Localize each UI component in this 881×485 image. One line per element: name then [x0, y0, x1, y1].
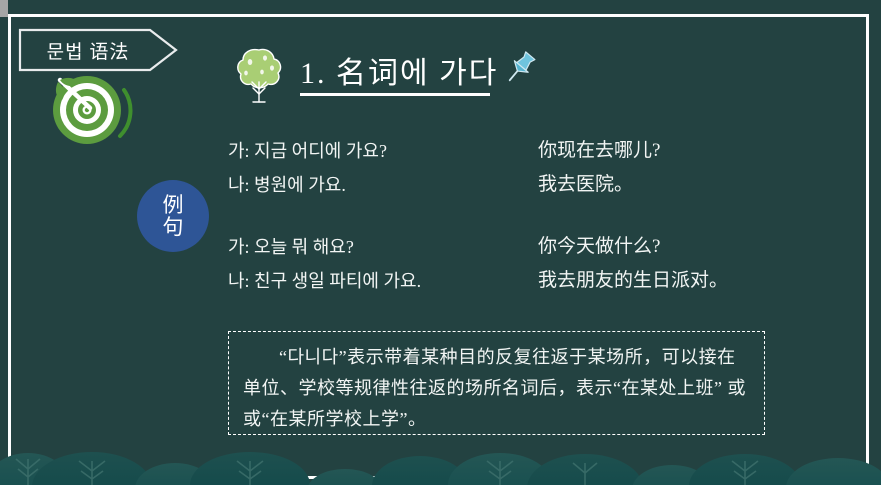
- explanation-text: “다니다”表示带着某种目的反复往返于某场所，可以接在单位、学校等规律性往返的场所…: [243, 342, 750, 435]
- title-underline: [300, 93, 490, 96]
- dialogue-korean: 나: 병원에 가요.: [228, 168, 346, 202]
- dialogue-korean: 나: 친구 생일 파티에 가요.: [228, 264, 421, 298]
- target-icon: [42, 62, 138, 148]
- dialogue-line: 가: 오늘 뭐 해요? 你今天做什么?: [228, 230, 788, 264]
- dialogue-chinese: 你今天做什么?: [538, 230, 660, 264]
- corner-marker: [0, 0, 8, 17]
- dialogue-korean: 가: 오늘 뭐 해요?: [228, 230, 354, 264]
- dialogue-line: 가: 지금 어디에 가요? 你现在去哪儿?: [228, 134, 788, 168]
- explanation-box: “다니다”表示带着某种目的反复往返于某场所，可以接在单位、学校等规律性往返的场所…: [228, 331, 765, 435]
- page-title: 1. 名词에 가다: [300, 48, 498, 92]
- example-badge: 例 句: [137, 180, 209, 252]
- dialogue-line: 나: 병원에 가요. 我去医院。: [228, 168, 788, 202]
- dialogue-korean: 가: 지금 어디에 가요?: [228, 134, 387, 168]
- dialogue-line: 나: 친구 생일 파티에 가요. 我去朋友的生日派对。: [228, 264, 788, 298]
- dialogue-chinese: 你现在去哪儿?: [538, 134, 660, 168]
- tree-icon: [232, 42, 286, 108]
- slide-canvas: 문법 语法: [0, 0, 881, 485]
- dialogue-list: 가: 지금 어디에 가요? 你现在去哪儿? 나: 병원에 가요. 我去医院。 가…: [228, 134, 788, 298]
- dialogue-group: 가: 오늘 뭐 해요? 你今天做什么? 나: 친구 생일 파티에 가요. 我去朋…: [228, 230, 788, 298]
- example-badge-line2: 句: [163, 216, 184, 238]
- example-badge-line1: 例: [163, 194, 184, 216]
- dialogue-group: 가: 지금 어디에 가요? 你现在去哪儿? 나: 병원에 가요. 我去医院。: [228, 134, 788, 202]
- dialogue-chinese: 我去朋友的生日派对。: [538, 264, 728, 298]
- dialogue-chinese: 我去医院。: [538, 168, 633, 202]
- pushpin-icon: [500, 48, 540, 88]
- bush-decoration: [0, 433, 881, 485]
